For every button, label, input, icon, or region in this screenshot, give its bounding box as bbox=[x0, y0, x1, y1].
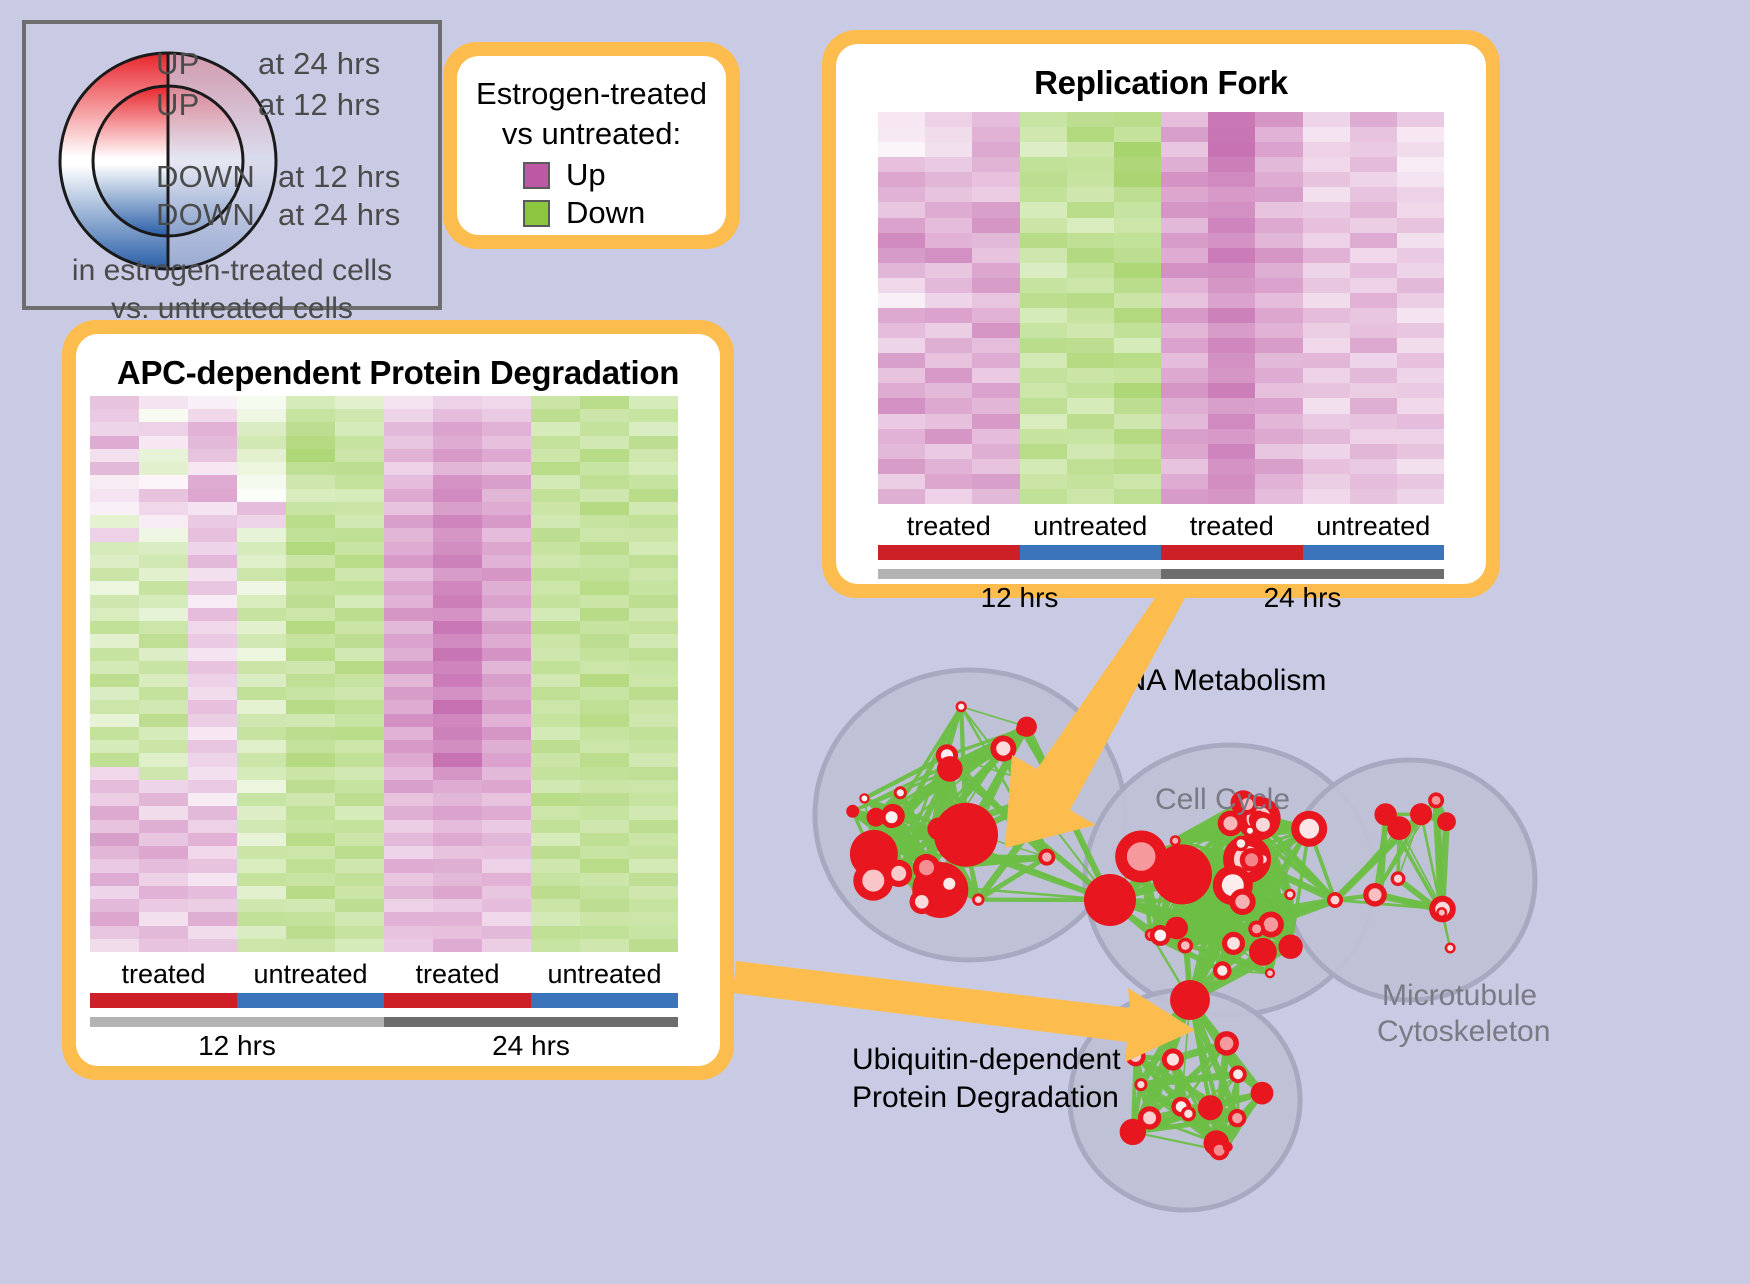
heatmap-cell bbox=[237, 926, 286, 939]
heatmap-cell bbox=[629, 396, 678, 409]
heatmap-cell bbox=[335, 780, 384, 793]
heatmap-cell bbox=[90, 912, 139, 925]
heatmap-cell bbox=[1020, 398, 1067, 413]
heatmap-cell bbox=[878, 353, 925, 368]
heatmap-cell bbox=[1350, 459, 1397, 474]
heatmap-cell bbox=[925, 429, 972, 444]
heatmap-cell bbox=[433, 700, 482, 713]
wheel-time-up-12: at 12 hrs bbox=[258, 87, 380, 123]
heatmap-cell bbox=[1303, 308, 1350, 323]
heatmap-cell bbox=[531, 859, 580, 872]
heatmap-cell bbox=[1397, 157, 1444, 172]
network-node[interactable] bbox=[1410, 803, 1432, 825]
heatmap-cell bbox=[878, 218, 925, 233]
heatmap-cell bbox=[1255, 218, 1302, 233]
heatmap-cell bbox=[188, 422, 237, 435]
heatmap-cell bbox=[878, 172, 925, 187]
heatmap-cell bbox=[188, 449, 237, 462]
heatmap-cell bbox=[237, 462, 286, 475]
heatmap-cell bbox=[629, 462, 678, 475]
heatmap-cell bbox=[531, 634, 580, 647]
heatmap-cell bbox=[1067, 323, 1114, 338]
heatmap-cell bbox=[531, 727, 580, 740]
heatmap-cell bbox=[1350, 353, 1397, 368]
heatmap-cell bbox=[384, 555, 433, 568]
heatmap-cell bbox=[531, 568, 580, 581]
heatmap-cell bbox=[384, 502, 433, 515]
heatmap-cell bbox=[580, 409, 629, 422]
heatmap-cell bbox=[188, 846, 237, 859]
heatmap-cell bbox=[1255, 474, 1302, 489]
heatmap-cell bbox=[1397, 112, 1444, 127]
heatmap-cell bbox=[90, 939, 139, 952]
heatmap-cell bbox=[1161, 187, 1208, 202]
heatmap-cell bbox=[237, 502, 286, 515]
heatmap-cell bbox=[1114, 308, 1161, 323]
heatmap-cell bbox=[139, 396, 188, 409]
heatmap-cell bbox=[433, 648, 482, 661]
heatmap-cell bbox=[925, 459, 972, 474]
heatmap-cell bbox=[1208, 112, 1255, 127]
network-node[interactable] bbox=[1223, 1142, 1233, 1152]
heatmap-cell bbox=[433, 542, 482, 555]
heatmap-cell bbox=[188, 873, 237, 886]
heatmap-cell bbox=[1255, 398, 1302, 413]
network-node-core bbox=[1172, 838, 1178, 844]
heatmap-cell bbox=[1114, 459, 1161, 474]
heatmap-cell bbox=[482, 899, 531, 912]
network-node[interactable] bbox=[863, 844, 880, 861]
heatmap-cell bbox=[629, 648, 678, 661]
heatmap-cell bbox=[237, 542, 286, 555]
heatmap-cell bbox=[384, 462, 433, 475]
cluster-label-microtubule-line1: Microtubule bbox=[1382, 978, 1537, 1014]
heatmap-cell bbox=[139, 714, 188, 727]
sample-group-3: untreated bbox=[531, 958, 678, 990]
heatmap-cell bbox=[1255, 323, 1302, 338]
network-node-core bbox=[1056, 787, 1064, 795]
network-node[interactable] bbox=[1017, 717, 1037, 737]
heatmap-cell bbox=[925, 323, 972, 338]
heatmap-cell bbox=[629, 873, 678, 886]
heatmap-cell bbox=[1255, 429, 1302, 444]
heatmap-cell bbox=[1020, 444, 1067, 459]
updown-legend-panel: Estrogen-treated vs untreated: Up Down bbox=[443, 42, 740, 249]
heatmap-cell bbox=[433, 608, 482, 621]
sample-group-0: treated bbox=[878, 510, 1020, 542]
network-node[interactable] bbox=[1198, 1095, 1223, 1120]
heatmap-cell bbox=[1114, 444, 1161, 459]
treatment-bar-segment bbox=[90, 993, 237, 1008]
heatmap-cell bbox=[237, 886, 286, 899]
heatmap-cell bbox=[139, 740, 188, 753]
heatmap-cell bbox=[139, 687, 188, 700]
heatmap-cell bbox=[629, 674, 678, 687]
heatmap-cell bbox=[1255, 233, 1302, 248]
treatment-bar-segment bbox=[1161, 545, 1303, 560]
heatmap-cell bbox=[1303, 233, 1350, 248]
heatmap-cell bbox=[482, 409, 531, 422]
heatmap-cell bbox=[1067, 233, 1114, 248]
wheel-time-down-24: at 24 hrs bbox=[278, 197, 400, 233]
heatmap-cell bbox=[90, 542, 139, 555]
heatmap-cell bbox=[1067, 157, 1114, 172]
heatmap-cell bbox=[1255, 353, 1302, 368]
heatmap-cell bbox=[286, 409, 335, 422]
timepoint-colour-bar bbox=[878, 569, 1444, 579]
heatmap-cell bbox=[629, 528, 678, 541]
heatmap-cell bbox=[384, 912, 433, 925]
network-node[interactable] bbox=[1374, 803, 1396, 825]
network-node[interactable] bbox=[927, 818, 950, 841]
heatmap-cell bbox=[433, 714, 482, 727]
heatmap-cell bbox=[972, 368, 1019, 383]
heatmap-cell bbox=[433, 687, 482, 700]
network-node[interactable] bbox=[1120, 1119, 1146, 1145]
network-node-core bbox=[1232, 1113, 1242, 1123]
wheel-label-up-12: UP bbox=[156, 87, 199, 123]
heatmap-cell bbox=[629, 912, 678, 925]
heatmap-cell bbox=[286, 780, 335, 793]
cluster-label-ubiquitin-line1: Ubiquitin-dependent bbox=[852, 1042, 1121, 1078]
heatmap-cell bbox=[1303, 489, 1350, 504]
heatmap-cell bbox=[1303, 474, 1350, 489]
heatmap-cell bbox=[482, 449, 531, 462]
heatmap-cell bbox=[1114, 489, 1161, 504]
heatmap-cell bbox=[384, 687, 433, 700]
cluster-label-ubiquitin-line2: Protein Degradation bbox=[852, 1080, 1119, 1116]
heatmap-cell bbox=[1350, 323, 1397, 338]
heatmap-cell bbox=[629, 833, 678, 846]
heatmap-cell bbox=[335, 912, 384, 925]
heatmap-cell bbox=[90, 595, 139, 608]
heatmap-cell bbox=[1303, 444, 1350, 459]
heatmap-cell bbox=[1255, 293, 1302, 308]
heatmap-cell bbox=[629, 700, 678, 713]
heatmap-cell bbox=[237, 634, 286, 647]
heatmap-cell bbox=[972, 278, 1019, 293]
heatmap-cell bbox=[237, 846, 286, 859]
wheel-label-up-24: UP bbox=[156, 46, 199, 82]
network-node-core bbox=[1143, 1111, 1156, 1124]
heatmap-cell bbox=[531, 449, 580, 462]
heatmap-cell bbox=[531, 542, 580, 555]
heatmap-cell bbox=[925, 293, 972, 308]
heatmap-cell bbox=[139, 899, 188, 912]
heatmap-cell bbox=[972, 293, 1019, 308]
network-node-core bbox=[891, 866, 906, 881]
heatmap-cell bbox=[139, 475, 188, 488]
heatmap-cell bbox=[139, 409, 188, 422]
heatmap-cell bbox=[972, 353, 1019, 368]
heatmap-cell bbox=[878, 338, 925, 353]
heatmap-cell bbox=[286, 436, 335, 449]
heatmap-cell bbox=[878, 308, 925, 323]
heatmap-cell bbox=[237, 581, 286, 594]
heatmap-cell bbox=[1397, 398, 1444, 413]
network-node[interactable] bbox=[1249, 938, 1277, 966]
network-node-core bbox=[1369, 888, 1382, 901]
heatmap-cell bbox=[1067, 459, 1114, 474]
heatmap-cell bbox=[878, 474, 925, 489]
heatmap-cell bbox=[90, 608, 139, 621]
heatmap-cell bbox=[139, 661, 188, 674]
heatmap-cell bbox=[1161, 308, 1208, 323]
heatmap-cell bbox=[1303, 353, 1350, 368]
heatmap-cell bbox=[482, 542, 531, 555]
heatmap-cell bbox=[188, 648, 237, 661]
legend-title-line1: Estrogen-treated bbox=[457, 74, 726, 114]
network-node-core bbox=[1233, 1069, 1243, 1079]
heatmap-cell bbox=[925, 398, 972, 413]
heatmap-cell bbox=[580, 661, 629, 674]
network-node-core bbox=[1220, 1037, 1234, 1051]
heatmap-cell bbox=[1303, 172, 1350, 187]
heatmap-cell bbox=[1114, 414, 1161, 429]
heatmap-cell bbox=[482, 820, 531, 833]
network-node[interactable] bbox=[1251, 1082, 1274, 1105]
heatmap-cell bbox=[286, 767, 335, 780]
network-node-core bbox=[1256, 818, 1270, 832]
heatmap-cell bbox=[972, 218, 1019, 233]
heatmap-cell bbox=[384, 475, 433, 488]
heatmap-cell bbox=[629, 409, 678, 422]
heatmap-cell bbox=[1350, 489, 1397, 504]
heatmap-cell bbox=[335, 740, 384, 753]
heatmap-cell bbox=[878, 429, 925, 444]
network-node[interactable] bbox=[1165, 917, 1188, 940]
heatmap-cell bbox=[972, 383, 1019, 398]
heatmap-cell bbox=[286, 793, 335, 806]
heatmap-cell bbox=[335, 806, 384, 819]
heatmap-cell bbox=[335, 634, 384, 647]
heatmap-cell bbox=[433, 595, 482, 608]
heatmap-cell bbox=[433, 475, 482, 488]
heatmap-cell bbox=[237, 436, 286, 449]
heatmap-cell bbox=[580, 634, 629, 647]
heatmap-cell bbox=[384, 489, 433, 502]
heatmap-cell bbox=[335, 528, 384, 541]
heatmap-cell bbox=[531, 595, 580, 608]
heatmap-cell bbox=[237, 873, 286, 886]
network-node-core bbox=[1224, 816, 1238, 830]
heatmap-cell bbox=[1114, 202, 1161, 217]
heatmap-cell bbox=[90, 700, 139, 713]
heatmap-replication-fork bbox=[878, 112, 1444, 504]
wheel-legend-caption: in estrogen-treated cells vs. untreated … bbox=[26, 252, 438, 328]
heatmap-cell bbox=[237, 409, 286, 422]
heatmap-cell bbox=[629, 886, 678, 899]
cluster-label-dna-metabolism: DNA Metabolism bbox=[1103, 663, 1326, 699]
heatmap-cell bbox=[925, 278, 972, 293]
heatmap-cell bbox=[139, 489, 188, 502]
heatmap-cell bbox=[972, 444, 1019, 459]
panel-apc-degradation: APC-dependent Protein Degradation treate… bbox=[62, 320, 734, 1080]
heatmap-cell bbox=[925, 368, 972, 383]
heatmap-cell bbox=[629, 581, 678, 594]
heatmap-cell bbox=[1208, 218, 1255, 233]
heatmap-cell bbox=[1303, 398, 1350, 413]
timepoint-colour-bar bbox=[90, 1017, 678, 1027]
heatmap-cell bbox=[90, 740, 139, 753]
heatmap-cell bbox=[972, 172, 1019, 187]
heatmap-cell bbox=[482, 581, 531, 594]
heatmap-cell bbox=[433, 846, 482, 859]
network-node-core bbox=[1267, 970, 1273, 976]
heatmap-cell bbox=[1208, 187, 1255, 202]
heatmap-cell bbox=[580, 859, 629, 872]
heatmap-cell bbox=[629, 608, 678, 621]
heatmap-cell bbox=[1397, 414, 1444, 429]
heatmap-cell bbox=[433, 581, 482, 594]
heatmap-cell bbox=[286, 449, 335, 462]
heatmap-cell bbox=[1067, 474, 1114, 489]
heatmap-cell bbox=[286, 806, 335, 819]
network-node-core bbox=[1127, 842, 1156, 871]
heatmap-cell bbox=[1161, 263, 1208, 278]
heatmap-cell bbox=[972, 414, 1019, 429]
network-node[interactable] bbox=[1278, 935, 1302, 959]
heatmap-cell bbox=[237, 899, 286, 912]
heatmap-cell bbox=[139, 912, 188, 925]
heatmap-cell bbox=[1020, 248, 1067, 263]
heatmap-cell bbox=[237, 740, 286, 753]
heatmap-cell bbox=[1067, 444, 1114, 459]
heatmap-cell bbox=[972, 157, 1019, 172]
heatmap-cell bbox=[1255, 142, 1302, 157]
heatmap-cell bbox=[580, 595, 629, 608]
heatmap-cell bbox=[384, 846, 433, 859]
heatmap-cell bbox=[286, 727, 335, 740]
heatmap-cell bbox=[482, 740, 531, 753]
network-node[interactable] bbox=[1170, 980, 1210, 1020]
heatmap-cell bbox=[433, 926, 482, 939]
heatmap-cell bbox=[237, 568, 286, 581]
heatmap-cell bbox=[433, 727, 482, 740]
legend-item-up: Up bbox=[523, 158, 726, 192]
heatmap-cell bbox=[531, 820, 580, 833]
heatmap-cell bbox=[335, 502, 384, 515]
heatmap-cell bbox=[1020, 459, 1067, 474]
heatmap-cell bbox=[925, 474, 972, 489]
heatmap-cell bbox=[90, 396, 139, 409]
heatmap-cell bbox=[1208, 368, 1255, 383]
heatmap-cell bbox=[580, 528, 629, 541]
network-node-core bbox=[1227, 937, 1240, 950]
heatmap-cell bbox=[1208, 398, 1255, 413]
heatmap-cell bbox=[629, 568, 678, 581]
heatmap-cell bbox=[1397, 353, 1444, 368]
heatmap-cell bbox=[139, 449, 188, 462]
heatmap-cell bbox=[1161, 353, 1208, 368]
heatmap-cell bbox=[188, 634, 237, 647]
heatmap-cell bbox=[531, 674, 580, 687]
heatmap-cell bbox=[286, 859, 335, 872]
timepoint-label-24: 24 hrs bbox=[384, 1029, 678, 1063]
heatmap-cell bbox=[139, 621, 188, 634]
heatmap-cell bbox=[531, 833, 580, 846]
heatmap-cell bbox=[531, 528, 580, 541]
heatmap-cell bbox=[1350, 142, 1397, 157]
heatmap-cell bbox=[972, 474, 1019, 489]
heatmap-cell bbox=[1020, 383, 1067, 398]
heatmap-cell bbox=[1161, 323, 1208, 338]
heatmap-cell bbox=[384, 648, 433, 661]
treatment-bar-segment bbox=[878, 545, 1020, 560]
heatmap-cell bbox=[1114, 112, 1161, 127]
heatmap-cell bbox=[1114, 383, 1161, 398]
heatmap-cell bbox=[580, 846, 629, 859]
heatmap-cell bbox=[1020, 489, 1067, 504]
heatmap-cell bbox=[139, 608, 188, 621]
heatmap-cell bbox=[335, 608, 384, 621]
heatmap-cell bbox=[1255, 444, 1302, 459]
heatmap-cell bbox=[925, 218, 972, 233]
heatmap-cell bbox=[139, 727, 188, 740]
network-node-core bbox=[1235, 895, 1249, 909]
heatmap-cell bbox=[925, 187, 972, 202]
heatmap-cell bbox=[1067, 112, 1114, 127]
network-node[interactable] bbox=[846, 805, 859, 818]
heatmap-cell bbox=[580, 926, 629, 939]
heatmap-cell bbox=[433, 859, 482, 872]
heatmap-cell bbox=[237, 767, 286, 780]
heatmap-cell bbox=[90, 727, 139, 740]
heatmap-cell bbox=[580, 449, 629, 462]
heatmap-cell bbox=[139, 833, 188, 846]
heatmap-cell bbox=[188, 714, 237, 727]
heatmap-cell bbox=[925, 353, 972, 368]
heatmap-cell bbox=[286, 753, 335, 766]
heatmap-cell bbox=[286, 568, 335, 581]
network-node[interactable] bbox=[1084, 874, 1136, 926]
heatmap-cell bbox=[433, 462, 482, 475]
heatmap-cell bbox=[629, 899, 678, 912]
heatmap-cell bbox=[90, 489, 139, 502]
heatmap-cell bbox=[1303, 429, 1350, 444]
heatmap-cell bbox=[1350, 187, 1397, 202]
heatmap-cell bbox=[1350, 444, 1397, 459]
heatmap-cell bbox=[1020, 172, 1067, 187]
heatmap-cell bbox=[1350, 112, 1397, 127]
heatmap-cell bbox=[1303, 338, 1350, 353]
network-node[interactable] bbox=[942, 759, 961, 778]
heatmap-cell bbox=[433, 886, 482, 899]
heatmap-cell bbox=[1255, 383, 1302, 398]
heatmap-cell bbox=[188, 740, 237, 753]
heatmap-cell bbox=[482, 528, 531, 541]
heatmap-cell bbox=[1303, 323, 1350, 338]
heatmap-cell bbox=[139, 820, 188, 833]
heatmap-cell bbox=[1161, 429, 1208, 444]
heatmap-cell bbox=[335, 833, 384, 846]
heatmap-cell bbox=[531, 912, 580, 925]
heatmap-cell bbox=[1350, 157, 1397, 172]
heatmap-cell bbox=[433, 780, 482, 793]
network-node[interactable] bbox=[1437, 812, 1456, 831]
heatmap-cell bbox=[286, 595, 335, 608]
heatmap-cell bbox=[1350, 127, 1397, 142]
heatmap-cell bbox=[925, 383, 972, 398]
heatmap-cell bbox=[1350, 308, 1397, 323]
heatmap-cell bbox=[237, 820, 286, 833]
heatmap-cell bbox=[1020, 278, 1067, 293]
heatmap-cell bbox=[1114, 429, 1161, 444]
heatmap-cell bbox=[580, 912, 629, 925]
heatmap-cell bbox=[482, 912, 531, 925]
heatmap-cell bbox=[1067, 383, 1114, 398]
heatmap-cell bbox=[335, 926, 384, 939]
